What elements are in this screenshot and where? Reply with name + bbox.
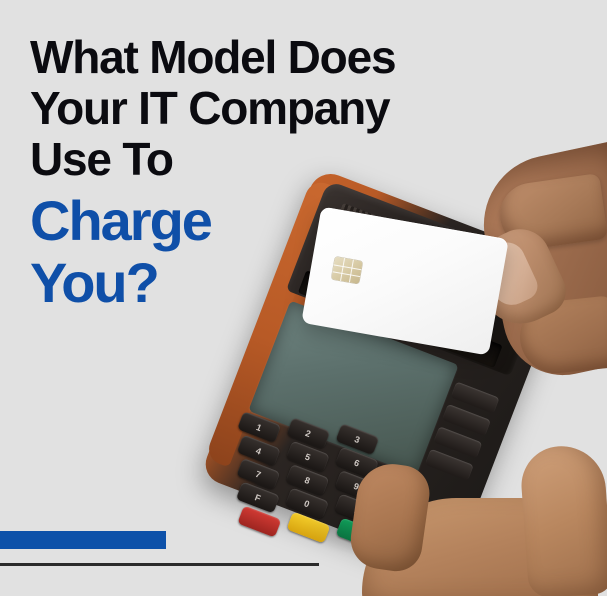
headline-line-5: You? (30, 252, 500, 314)
headline-line-1: What Model Does (30, 32, 500, 83)
headline-line-2: Your IT Company (30, 83, 500, 134)
headline-line-3: Use To (30, 134, 500, 185)
dark-rule (0, 563, 319, 566)
headline-line-4: Charge (30, 190, 500, 252)
page-title: What Model Does Your IT Company Use To C… (30, 32, 500, 314)
keypad-key-cancel (237, 505, 281, 537)
hand-holding-terminal (352, 452, 607, 596)
headline-accent-block: Charge You? (30, 190, 500, 314)
poster-canvas: 1 2 3 4 5 6 7 8 9 F 0 . (0, 0, 607, 596)
blue-accent-bar (0, 531, 166, 549)
thumb-bottom (519, 443, 607, 596)
